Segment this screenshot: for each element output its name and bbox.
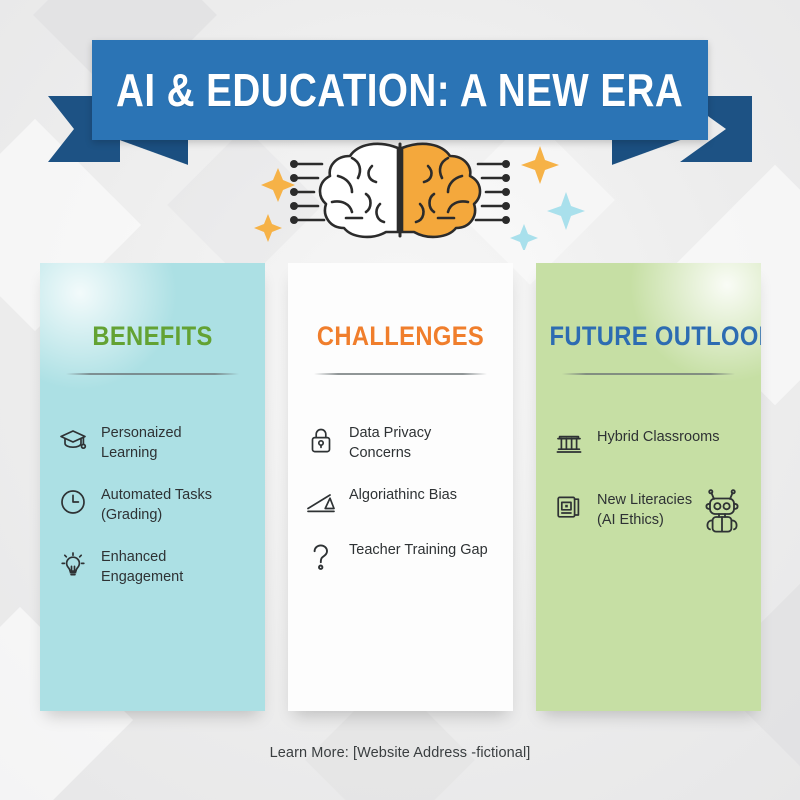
card-future-outlook[interactable]: FUTURE OUTLOOK Hybrid Classr	[536, 263, 761, 711]
card-title-benefits: BENEFITS	[54, 321, 252, 352]
card-divider	[562, 373, 735, 375]
list-item-label: New Literacies (AI Ethics)	[597, 490, 692, 530]
list-item[interactable]: Enhanced Engagement	[56, 547, 249, 587]
cards-row: BENEFITS Personaized Learning	[0, 263, 800, 711]
lock-icon	[306, 424, 336, 456]
list-item-label: Automated Tasks (Grading)	[101, 485, 212, 525]
list-item-label: Enhanced Engagement	[101, 547, 183, 587]
list-item[interactable]: Hybrid Classrooms	[552, 427, 745, 460]
list-item-label: Teacher Training Gap	[349, 540, 488, 561]
lightbulb-icon	[58, 548, 88, 580]
infographic-canvas: AI & EDUCATION: A NEW ERA	[0, 0, 800, 800]
hero-illustration	[0, 132, 800, 250]
list-item-label: Hybrid Classrooms	[597, 427, 719, 448]
list-item[interactable]: Automated Tasks (Grading)	[56, 485, 249, 525]
list-item-label: Personaized Learning	[101, 423, 182, 463]
book-screen-icon	[554, 491, 584, 523]
list-item-label: Data Privacy Concerns	[349, 423, 431, 463]
card-divider	[314, 373, 487, 375]
challenge-list: Data Privacy Concerns Algoriathinc Bias	[288, 423, 513, 595]
bias-ramp-icon	[306, 486, 336, 518]
card-title-challenges: CHALLENGES	[302, 321, 500, 352]
card-title-future-outlook: FUTURE OUTLOOK	[550, 321, 748, 352]
card-benefits[interactable]: BENEFITS Personaized Learning	[40, 263, 265, 711]
banner-plate: AI & EDUCATION: A NEW ERA	[92, 40, 708, 140]
list-item[interactable]: Teacher Training Gap	[304, 540, 497, 573]
card-divider	[66, 373, 239, 375]
footer-text: Learn More: [Website Address -fictional]	[0, 745, 800, 761]
page-title: AI & EDUCATION: A NEW ERA	[116, 63, 683, 117]
benefit-list: Personaized Learning Automated Tasks (Gr…	[40, 423, 265, 609]
list-item[interactable]: Personaized Learning	[56, 423, 249, 463]
list-item-label: Algoriathinc Bias	[349, 485, 457, 506]
classroom-building-icon	[554, 428, 584, 460]
clock-icon	[58, 486, 88, 518]
header-ribbon: AI & EDUCATION: A NEW ERA	[0, 34, 800, 144]
card-challenges[interactable]: CHALLENGES Data Privacy Concerns	[288, 263, 513, 711]
graduation-cap-icon	[58, 424, 88, 456]
list-item[interactable]: Data Privacy Concerns	[304, 423, 497, 463]
robot-icon	[699, 489, 745, 544]
list-item[interactable]: Algoriathinc Bias	[304, 485, 497, 518]
question-mark-icon	[306, 541, 336, 573]
ai-brain-icon	[0, 132, 800, 250]
